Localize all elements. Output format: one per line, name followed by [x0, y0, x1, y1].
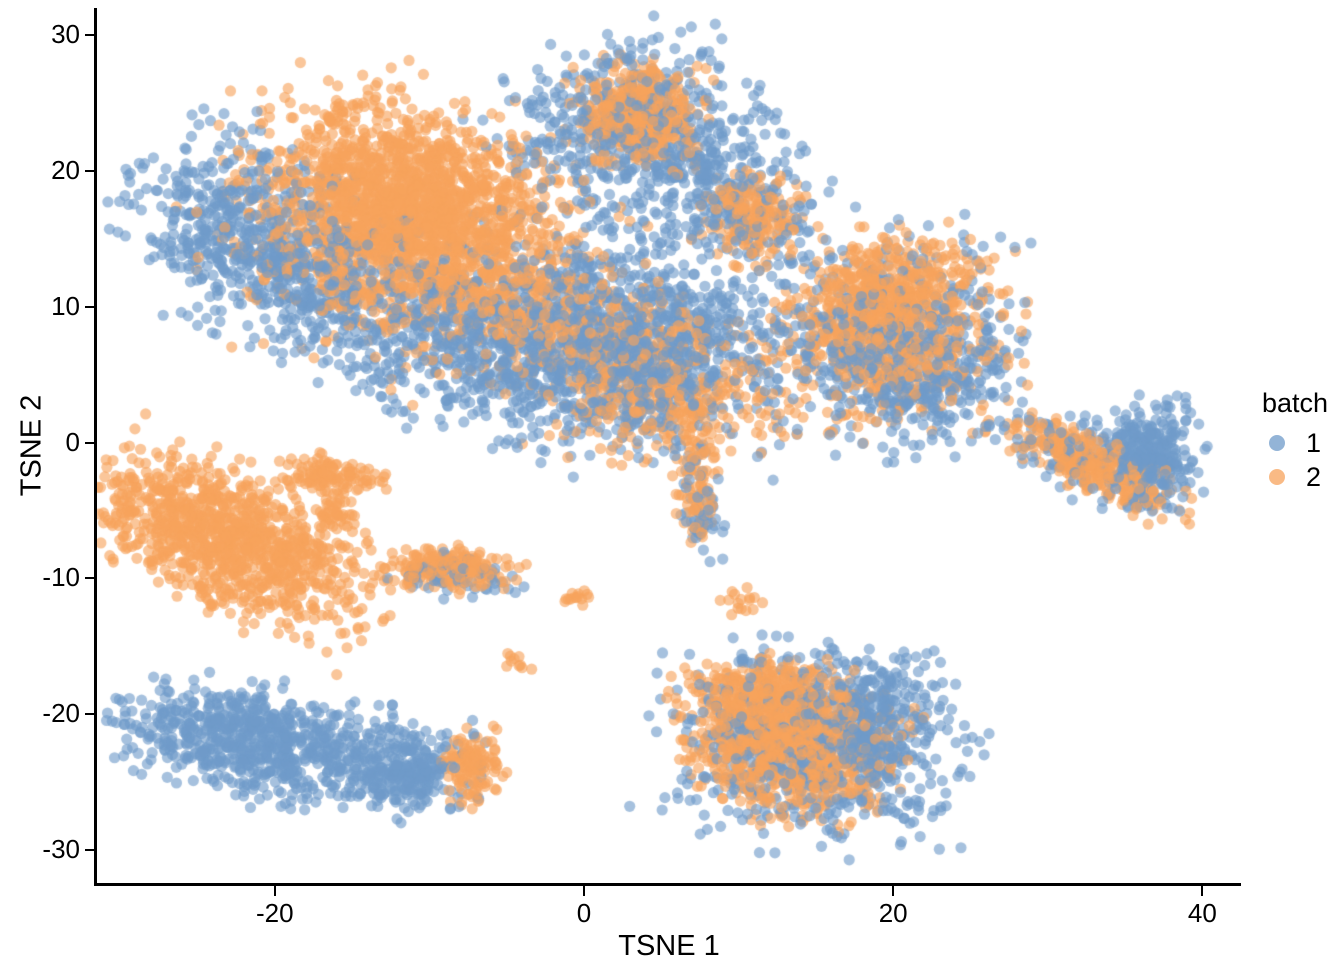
legend-title: batch — [1262, 388, 1342, 418]
y-tick-mark — [85, 34, 95, 36]
y-tick-mark — [85, 713, 95, 715]
legend-item-label: 2 — [1306, 462, 1321, 492]
legend-item-label: 1 — [1306, 428, 1321, 458]
x-tick-mark — [892, 886, 894, 896]
x-tick-mark — [274, 886, 276, 896]
x-axis-line — [94, 883, 1241, 886]
x-tick-label: 20 — [848, 898, 938, 928]
legend: batch 12 — [1262, 388, 1342, 494]
legend-item-batch-1[interactable]: 1 — [1262, 426, 1342, 460]
y-tick-mark — [85, 306, 95, 308]
x-tick-label: 40 — [1157, 898, 1247, 928]
legend-items: 12 — [1262, 426, 1342, 494]
y-axis-line — [94, 8, 97, 886]
y-axis-title-wrap: TSNE 2 — [0, 0, 82, 890]
x-tick-label: 0 — [539, 898, 629, 928]
legend-color-swatch — [1269, 469, 1285, 485]
y-tick-mark — [85, 577, 95, 579]
x-axis-title: TSNE 1 — [97, 932, 1241, 961]
y-tick-mark — [85, 849, 95, 851]
x-tick-label: -20 — [230, 898, 320, 928]
x-tick-mark — [1201, 886, 1203, 896]
x-tick-mark — [583, 886, 585, 896]
legend-key-dot-icon — [1262, 428, 1292, 458]
tsne-scatter-figure: 3020100-10-20-30 -2002040 TSNE 1 TSNE 2 … — [0, 0, 1344, 960]
legend-item-batch-2[interactable]: 2 — [1262, 460, 1342, 494]
plot-panel — [97, 8, 1241, 884]
legend-color-swatch — [1269, 435, 1285, 451]
y-axis-title: TSNE 2 — [18, 394, 47, 496]
y-tick-mark — [85, 170, 95, 172]
legend-key-dot-icon — [1262, 462, 1292, 492]
y-tick-mark — [85, 442, 95, 444]
scatter-points-canvas — [97, 8, 1241, 884]
